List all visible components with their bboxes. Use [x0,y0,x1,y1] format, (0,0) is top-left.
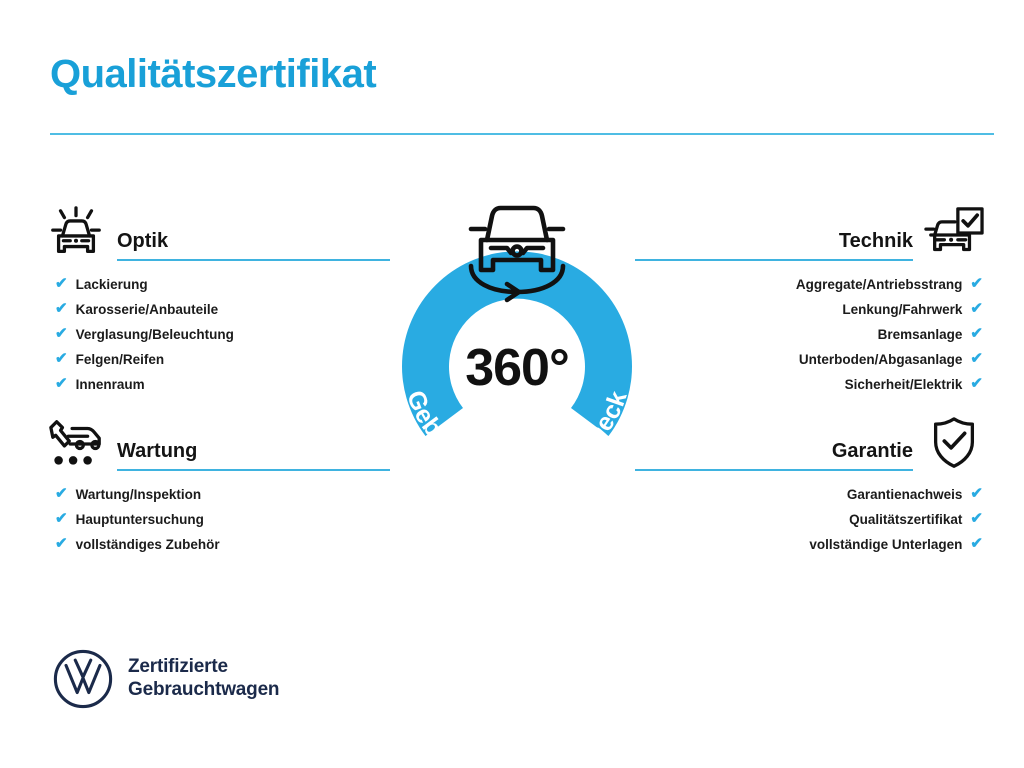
brand-text: Zertifizierte Gebrauchtwagen [128,656,279,702]
check-icon: ✔ [970,276,983,291]
section-underline [635,259,913,261]
section-technik: Technik ✔Aggregate/Antriebsstrang ✔Lenku… [635,205,985,402]
check-icon: ✔ [55,351,68,366]
section-title-technik: Technik [635,230,913,259]
check-icon: ✔ [970,511,983,526]
list-item-label: Lenkung/Fahrwerk [842,303,962,317]
list-item: ✔Lackierung [45,277,390,292]
list-item: ✔Sicherheit/Elektrik [845,377,985,392]
checklist-garantie: ✔Garantienachweis ✔Qualitätszertifikat ✔… [635,487,985,562]
list-item: ✔Wartung/Inspektion [45,487,390,502]
list-item: ✔Bremsanlage [878,327,985,342]
list-item-label: vollständige Unterlagen [809,538,962,552]
list-item-label: Wartung/Inspektion [76,488,202,502]
list-item-label: Bremsanlage [878,328,963,342]
certificate-page: Qualitätszertifikat Optik [0,0,1024,768]
check-icon: ✔ [55,301,68,316]
checklist-optik: ✔Lackierung ✔Karosserie/Anbauteile ✔Verg… [45,277,390,392]
section-underline [117,259,390,261]
shield-check-icon [923,415,985,473]
vw-logo [52,648,114,710]
check-icon: ✔ [970,486,983,501]
checklist-technik: ✔Aggregate/Antriebsstrang ✔Lenkung/Fahrw… [635,277,985,402]
list-item: ✔Lenkung/Fahrwerk [842,302,985,317]
section-wartung: Wartung ✔Wartung/Inspektion ✔Hauptunters… [45,415,390,562]
section-title-garantie: Garantie [635,440,913,469]
section-underline [635,469,913,471]
list-item-label: Lackierung [76,278,148,292]
list-item: ✔Garantienachweis [847,487,985,502]
brand-line-2: Gebrauchtwagen [128,679,279,702]
list-item-label: Unterboden/Abgasanlage [799,353,963,367]
list-item: ✔Qualitätszertifikat [849,512,985,527]
car-shine-icon [45,205,107,263]
badge-360-gebrauchtwagen-check: Gebrauchtwagen-Check 360° [372,196,662,496]
check-icon: ✔ [970,536,983,551]
list-item-label: vollständiges Zubehör [76,538,220,552]
list-item: ✔Karosserie/Anbauteile [45,302,390,317]
list-item: ✔Innenraum [45,377,390,392]
section-underline [117,469,390,471]
check-icon: ✔ [55,536,68,551]
list-item-label: Verglasung/Beleuchtung [76,328,234,342]
section-title-wartung: Wartung [117,440,390,469]
section-garantie: Garantie ✔Garantienachweis ✔Qualitätszer… [635,415,985,562]
car-rotate-icon [455,196,579,304]
check-icon: ✔ [970,301,983,316]
list-item-label: Innenraum [76,378,145,392]
list-item-label: Hauptuntersuchung [76,513,204,527]
list-item: ✔vollständige Unterlagen [809,537,985,552]
list-item-label: Felgen/Reifen [76,353,165,367]
checklist-wartung: ✔Wartung/Inspektion ✔Hauptuntersuchung ✔… [45,487,390,552]
check-icon: ✔ [55,276,68,291]
header-divider [50,133,994,135]
wrench-car-icon [45,415,107,473]
check-icon: ✔ [55,511,68,526]
brand-lockup: Zertifizierte Gebrauchtwagen [52,648,279,710]
list-item-label: Qualitätszertifikat [849,513,962,527]
list-item-label: Aggregate/Antriebsstrang [796,278,963,292]
list-item: ✔Hauptuntersuchung [45,512,390,527]
list-item: ✔Aggregate/Antriebsstrang [796,277,985,292]
check-icon: ✔ [55,376,68,391]
section-title-optik: Optik [117,230,390,259]
brand-line-1: Zertifizierte [128,656,279,679]
list-item: ✔Verglasung/Beleuchtung [45,327,390,342]
list-item-label: Karosserie/Anbauteile [76,303,219,317]
list-item-label: Garantienachweis [847,488,963,502]
check-icon: ✔ [970,351,983,366]
page-title: Qualitätszertifikat [50,52,376,96]
section-optik: Optik ✔Lackierung ✔Karosserie/Anbauteile… [45,205,390,402]
badge-center-label: 360° [372,342,662,394]
check-icon: ✔ [970,376,983,391]
list-item: ✔Felgen/Reifen [45,352,390,367]
car-checkbox-icon [923,205,985,263]
list-item: ✔vollständiges Zubehör [45,537,390,552]
check-icon: ✔ [970,326,983,341]
list-item: ✔Unterboden/Abgasanlage [799,352,985,367]
check-icon: ✔ [55,486,68,501]
list-item-label: Sicherheit/Elektrik [845,378,963,392]
check-icon: ✔ [55,326,68,341]
